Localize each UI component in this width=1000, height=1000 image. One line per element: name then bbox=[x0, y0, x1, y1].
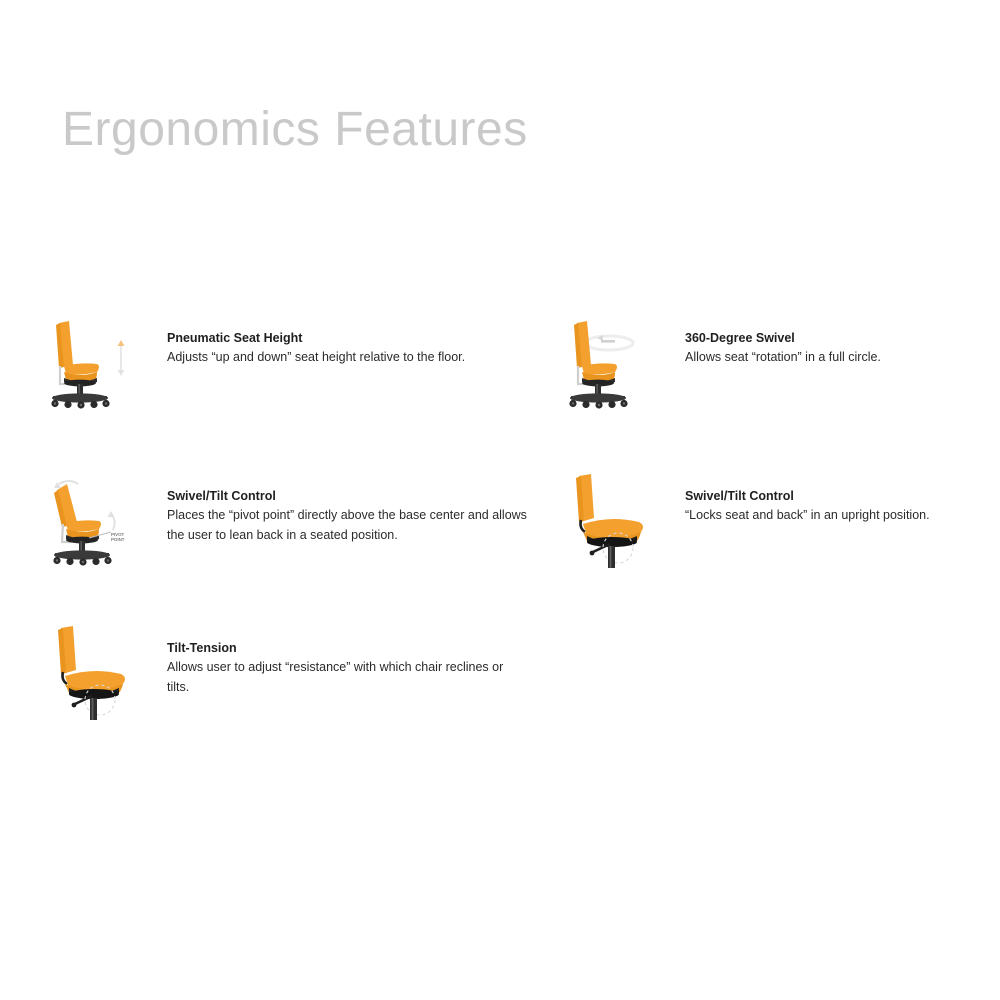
office-chair-side-view-with-up-down-arrow-icon bbox=[45, 310, 155, 410]
feature-item-360-degree-swivel: 360-Degree Swivel Allows seat “rotation”… bbox=[563, 310, 881, 410]
office-chair-tilt-tension-mechanism-detail-icon bbox=[45, 620, 155, 720]
chair-illustration-seat-mechanism bbox=[563, 468, 673, 568]
feature-title: Tilt-Tension bbox=[167, 639, 527, 657]
feature-description: Allows seat “rotation” in a full circle. bbox=[685, 348, 881, 367]
feature-item-pneumatic-seat-height: Pneumatic Seat Height Adjusts “up and do… bbox=[45, 310, 465, 410]
office-chair-seat-mechanism-detail-icon bbox=[563, 468, 673, 568]
svg-text:POINT: POINT bbox=[111, 537, 125, 542]
feature-title: Swivel/Tilt Control bbox=[167, 487, 527, 505]
page-root: Ergonomics Features bbox=[0, 0, 1000, 1000]
feature-text-block: Swivel/Tilt Control Places the “pivot po… bbox=[155, 468, 527, 545]
feature-item-tilt-tension: Tilt-Tension Allows user to adjust “resi… bbox=[45, 620, 527, 720]
feature-text-block: Tilt-Tension Allows user to adjust “resi… bbox=[155, 620, 527, 697]
feature-title: Swivel/Tilt Control bbox=[685, 487, 930, 505]
office-chair-reclining-with-pivot-point-callout-icon: PIVOT POINT bbox=[45, 468, 155, 568]
chair-illustration-tilt-tension bbox=[45, 620, 155, 720]
feature-title: 360-Degree Swivel bbox=[685, 329, 881, 347]
chair-illustration-swivel bbox=[563, 310, 673, 410]
feature-description: Allows user to adjust “resistance” with … bbox=[167, 658, 527, 697]
feature-description: Places the “pivot point” directly above … bbox=[167, 506, 527, 545]
features-grid: Pneumatic Seat Height Adjusts “up and do… bbox=[0, 0, 1000, 1000]
chair-illustration-pivot-point: PIVOT POINT bbox=[45, 468, 155, 568]
feature-text-block: Pneumatic Seat Height Adjusts “up and do… bbox=[155, 310, 465, 368]
feature-item-swivel-tilt-control-lock: Swivel/Tilt Control “Locks seat and back… bbox=[563, 468, 930, 568]
feature-text-block: 360-Degree Swivel Allows seat “rotation”… bbox=[673, 310, 881, 368]
chair-illustration-pneumatic bbox=[45, 310, 155, 410]
rotation-arrow-icon bbox=[585, 335, 633, 350]
feature-description: Adjusts “up and down” seat height relati… bbox=[167, 348, 465, 367]
feature-description: “Locks seat and back” in an upright posi… bbox=[685, 506, 930, 525]
office-chair-side-view-with-rotation-arrow-icon bbox=[563, 310, 673, 410]
feature-title: Pneumatic Seat Height bbox=[167, 329, 465, 347]
feature-item-swivel-tilt-control-pivot: PIVOT POINT Swivel/Tilt C bbox=[45, 468, 527, 568]
feature-text-block: Swivel/Tilt Control “Locks seat and back… bbox=[673, 468, 930, 526]
